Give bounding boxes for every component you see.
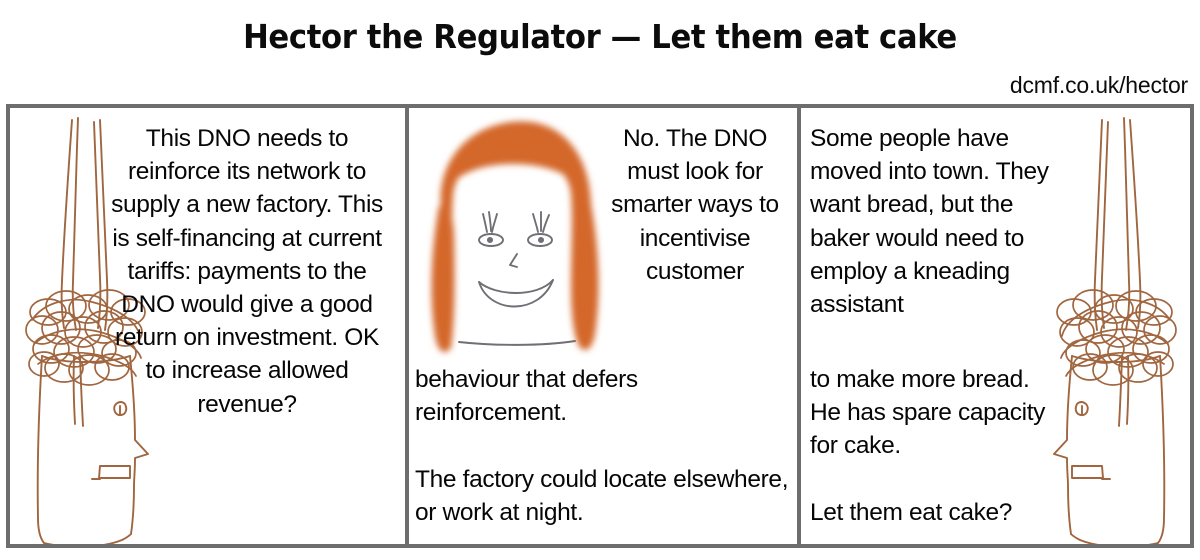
source-url: dcmf.co.uk/hector [1010,72,1188,99]
speech-bubble-text-panel-2-top: No. The DNO must look for smarter ways t… [604,122,786,288]
page-title: Hector the Regulator — Let them eat cake [42,17,1158,56]
comic-header: Hector the Regulator — Let them eat cake… [0,0,1200,104]
comic-panel-2: No. The DNO must look for smarter ways t… [405,108,797,544]
comic-strip-page: Hector the Regulator — Let them eat cake… [0,0,1200,560]
speech-bubble-text-panel-3-bottom: to make more bread. He has spare capacit… [810,363,1060,529]
speech-bubble-text-panel-2-bottom: behaviour that defers reinforcement. The… [415,363,795,529]
speech-bubble-text-panel-1: This DNO needs to reinforce its network … [102,122,392,421]
comic-panel-3: Some people have moved into town. They w… [797,108,1190,544]
comic-panel-1: This DNO needs to reinforce its network … [10,108,405,544]
speech-bubble-text-panel-3-top: Some people have moved into town. They w… [810,122,1072,321]
comic-frame: This DNO needs to reinforce its network … [6,104,1194,548]
